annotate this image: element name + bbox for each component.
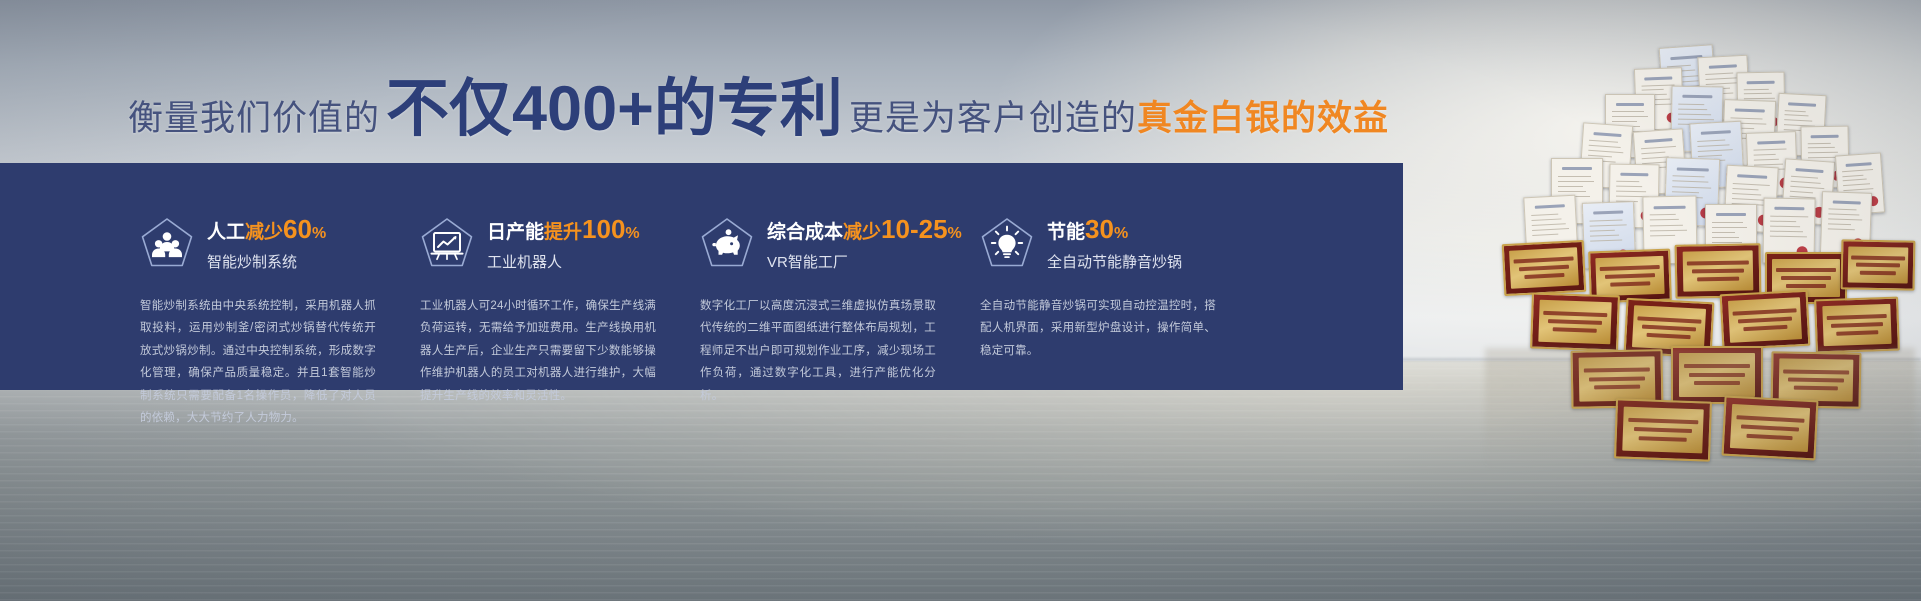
feature-card-titles: 综合成本减少10-25% VR智能工厂 xyxy=(767,216,962,271)
feature-title-plain: 人工 xyxy=(207,222,245,243)
feature-card: 人工减少60% 智能炒制系统 智能炒制系统由中央系统控制，采用机器人抓取投料，运… xyxy=(140,215,398,430)
feature-card-list: 人工减少60% 智能炒制系统 智能炒制系统由中央系统控制，采用机器人抓取投料，运… xyxy=(0,215,1403,430)
feature-card-title: 人工减少60% xyxy=(207,216,326,243)
feature-card-subtitle: 工业机器人 xyxy=(487,251,640,272)
feature-panel-inner: 人工减少60% 智能炒制系统 智能炒制系统由中央系统控制，采用机器人抓取投料，运… xyxy=(0,163,1403,390)
feature-title-number: 10-25 xyxy=(881,214,948,244)
feature-panel: 人工减少60% 智能炒制系统 智能炒制系统由中央系统控制，采用机器人抓取投料，运… xyxy=(0,163,1403,390)
page-title: 衡量我们价值的 不仅400+的专利 更是为客户创造的 真金白银的效益 xyxy=(128,78,1389,141)
headline-middle: 更是为客户创造的 xyxy=(849,90,1137,141)
feature-title-unit: % xyxy=(948,225,962,242)
feature-card-header: 人工减少60% 智能炒制系统 xyxy=(140,215,398,273)
chart-presentation-icon xyxy=(420,216,474,272)
feature-title-number: 100 xyxy=(582,214,625,244)
piggy-bank-icon xyxy=(700,216,754,272)
feature-card: 综合成本减少10-25% VR智能工厂 数字化工厂以高度沉浸式三维虚拟仿真场景取… xyxy=(700,215,958,430)
banner-stage: 衡量我们价值的 不仅400+的专利 更是为客户创造的 真金白银的效益 人工减少6… xyxy=(0,0,1921,601)
feature-title-accent: 减少 xyxy=(843,222,881,243)
feature-card-header: 日产能提升100% 工业机器人 xyxy=(420,215,678,273)
feature-title-plain: 节能 xyxy=(1047,222,1085,243)
feature-card-body: 工业机器人可24小时循环工作，确保生产线满负荷运转，无需给予加班费用。生产线换用… xyxy=(420,295,656,407)
headline-lead: 衡量我们价值的 xyxy=(128,90,380,141)
feature-card-body: 数字化工厂以高度沉浸式三维虚拟仿真场景取代传统的二维平面图纸进行整体布局规划，工… xyxy=(700,295,936,407)
feature-card-title: 节能30% xyxy=(1047,216,1182,243)
feature-card-header: 综合成本减少10-25% VR智能工厂 xyxy=(700,215,958,273)
feature-title-unit: % xyxy=(1114,225,1128,242)
people-group-icon xyxy=(140,216,194,272)
feature-title-number: 30 xyxy=(1085,214,1114,244)
feature-card-title: 综合成本减少10-25% xyxy=(767,216,962,243)
headline-highlight: 不仅400+的专利 xyxy=(386,78,843,141)
feature-card-titles: 节能30% 全自动节能静音炒锅 xyxy=(1047,216,1182,271)
feature-title-number: 60 xyxy=(283,214,312,244)
feature-title-plain: 综合成本 xyxy=(767,222,843,243)
feature-card-subtitle: VR智能工厂 xyxy=(767,251,962,272)
feature-card-title: 日产能提升100% xyxy=(487,216,640,243)
headline-accent: 真金白银的效益 xyxy=(1137,90,1389,141)
lightbulb-icon xyxy=(980,216,1034,272)
feature-card-body: 智能炒制系统由中央系统控制，采用机器人抓取投料，运用炒制釜/密闭式炒锅替代传统开… xyxy=(140,295,376,430)
feature-card: 日产能提升100% 工业机器人 工业机器人可24小时循环工作，确保生产线满负荷运… xyxy=(420,215,678,430)
feature-title-unit: % xyxy=(625,225,639,242)
feature-title-plain: 日产能 xyxy=(487,222,544,243)
feature-card-body: 全自动节能静音炒锅可实现自动控温控时，搭配人机界面，采用新型炉盘设计，操作简单、… xyxy=(980,295,1216,362)
feature-title-accent: 提升 xyxy=(544,222,582,243)
feature-card-titles: 人工减少60% 智能炒制系统 xyxy=(207,216,326,271)
feature-card-titles: 日产能提升100% 工业机器人 xyxy=(487,216,640,271)
feature-card-subtitle: 智能炒制系统 xyxy=(207,251,326,272)
feature-title-accent: 减少 xyxy=(245,222,283,243)
feature-card-subtitle: 全自动节能静音炒锅 xyxy=(1047,251,1182,272)
feature-card: 节能30% 全自动节能静音炒锅 全自动节能静音炒锅可实现自动控温控时，搭配人机界… xyxy=(980,215,1238,430)
feature-title-unit: % xyxy=(312,225,326,242)
feature-card-header: 节能30% 全自动节能静音炒锅 xyxy=(980,215,1238,273)
